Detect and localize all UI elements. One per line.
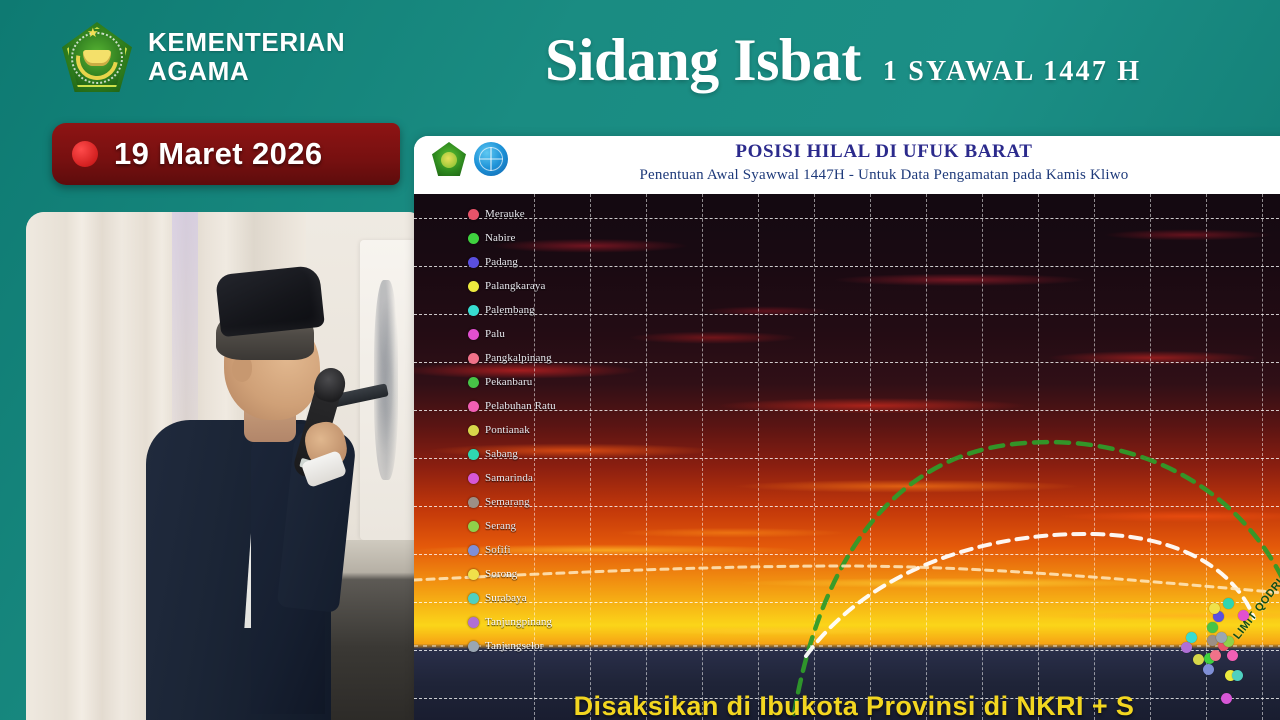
legend-item-label: Pelabuhan Ratu — [485, 400, 556, 412]
legend-item: Pangkalpinang — [468, 346, 572, 370]
speaker-video-panel — [26, 212, 426, 720]
legend-item: Palembang — [468, 298, 572, 322]
legend-item-label: Merauke — [485, 208, 525, 220]
legend-item: Pontianak — [468, 418, 572, 442]
data-point — [1232, 670, 1243, 681]
live-record-dot-icon — [72, 141, 98, 167]
legend-item-label: Samarinda — [485, 472, 533, 484]
legend-color-swatch — [468, 401, 479, 412]
data-point — [1181, 642, 1192, 653]
legend-color-swatch — [468, 617, 479, 628]
legend-color-swatch — [468, 425, 479, 436]
hilal-chart-panel: POSISI HILAL DI UFUK BARAT Penentuan Awa… — [414, 136, 1280, 720]
legend-item-label: Tanjungpinang — [485, 616, 552, 628]
legend-color-swatch — [468, 641, 479, 652]
legend-item: Merauke — [468, 202, 572, 226]
data-point — [1203, 664, 1214, 675]
legend-item-label: Serang — [485, 520, 516, 532]
legend-item: Pelabuhan Ratu — [468, 394, 572, 418]
peci-cap-icon — [215, 265, 325, 338]
legend-color-swatch — [468, 353, 479, 364]
legend-color-swatch — [468, 209, 479, 220]
legend-item: Palangkaraya — [468, 274, 572, 298]
legend-color-swatch — [468, 449, 479, 460]
legend-color-swatch — [468, 233, 479, 244]
legend-item-label: Sofifi — [485, 544, 511, 556]
legend-item-label: Pekanbaru — [485, 376, 532, 388]
legend-item-label: Palembang — [485, 304, 535, 316]
legend-item-label: Pontianak — [485, 424, 530, 436]
chart-header: POSISI HILAL DI UFUK BARAT Penentuan Awa… — [414, 136, 1280, 194]
legend-item: Palu — [468, 322, 572, 346]
legend-item-label: Surabaya — [485, 592, 527, 604]
legend-item: Sabang — [468, 442, 572, 466]
hilal-data-points — [1186, 594, 1256, 704]
organization-line-2: AGAMA — [148, 57, 345, 86]
legend-item-label: Nabire — [485, 232, 516, 244]
data-point — [1193, 654, 1204, 665]
data-point — [1238, 610, 1249, 621]
legend-item-label: Tanjungselor — [485, 640, 543, 652]
kemenag-logo-icon — [62, 22, 132, 92]
data-point — [1210, 650, 1221, 661]
program-title-subtitle: 1 SYAWAL 1447 H — [883, 56, 1141, 88]
data-point — [1207, 622, 1218, 633]
legend-color-swatch — [468, 473, 479, 484]
legend-color-swatch — [468, 305, 479, 316]
legend-item: Tanjungpinang — [468, 610, 572, 634]
broadcast-stage: KEMENTERIAN AGAMA 19 Maret 2026 Sidang I… — [0, 0, 1280, 720]
legend-color-swatch — [468, 329, 479, 340]
organization-name: KEMENTERIAN AGAMA — [148, 28, 345, 86]
legend-item: Samarinda — [468, 466, 572, 490]
date-banner: 19 Maret 2026 — [52, 123, 400, 185]
broadcast-date: 19 Maret 2026 — [114, 136, 323, 172]
legend-color-swatch — [468, 545, 479, 556]
legend-item: Surabaya — [468, 586, 572, 610]
chart-title: POSISI HILAL DI UFUK BARAT — [414, 141, 1280, 163]
legend-item: Sorong — [468, 562, 572, 586]
speaker-person — [136, 280, 368, 720]
legend-item-label: Palangkaraya — [485, 280, 545, 292]
legend-color-swatch — [468, 593, 479, 604]
legend-item: Tanjungselor — [468, 634, 572, 658]
legend-color-swatch — [468, 497, 479, 508]
chart-subtitle: Penentuan Awal Syawwal 1447H - Untuk Dat… — [414, 167, 1280, 184]
legend-color-swatch — [468, 257, 479, 268]
data-point — [1186, 632, 1197, 643]
legend-color-swatch — [468, 377, 479, 388]
legend-item: Pekanbaru — [468, 370, 572, 394]
program-title: Sidang Isbat 1 SYAWAL 1447 H — [545, 26, 1141, 95]
legend-item: Sofifi — [468, 538, 572, 562]
legend-item-label: Pangkalpinang — [485, 352, 552, 364]
data-point — [1223, 598, 1234, 609]
legend-item-label: Padang — [485, 256, 518, 268]
chart-bottom-caption: Disaksikan di Ibukota Provinsi di NKRI +… — [414, 691, 1280, 720]
data-point — [1209, 603, 1220, 614]
sky-plot-area: LIMIT QODRI LIMIT DANJON MABIMS Limit Fu… — [414, 194, 1280, 720]
data-point — [1227, 650, 1238, 661]
legend-item: Semarang — [468, 490, 572, 514]
legend-item: Serang — [468, 514, 572, 538]
legend-item-label: Sabang — [485, 448, 518, 460]
program-title-main: Sidang Isbat — [545, 26, 861, 95]
legend-item-label: Semarang — [485, 496, 530, 508]
legend-item: Padang — [468, 250, 572, 274]
kemenag-branding: KEMENTERIAN AGAMA — [62, 22, 345, 92]
chart-legend: MeraukeNabirePadangPalangkarayaPalembang… — [468, 202, 572, 658]
legend-item-label: Sorong — [485, 568, 517, 580]
legend-item-label: Palu — [485, 328, 505, 340]
legend-color-swatch — [468, 281, 479, 292]
legend-item: Nabire — [468, 226, 572, 250]
legend-color-swatch — [468, 521, 479, 532]
legend-color-swatch — [468, 569, 479, 580]
organization-line-1: KEMENTERIAN — [148, 28, 345, 57]
